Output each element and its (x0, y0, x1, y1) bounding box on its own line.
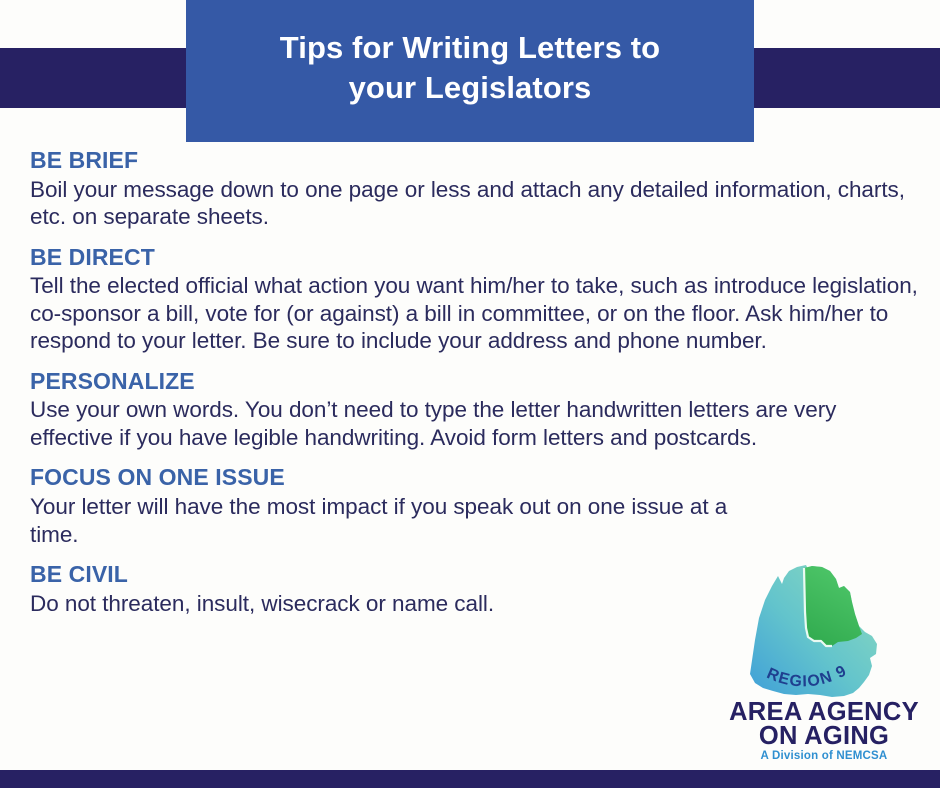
tip-body-be-brief: Boil your message down to one page or le… (30, 176, 920, 231)
title-line-2: your Legislators (349, 70, 592, 105)
tips-list: BE BRIEF Boil your message down to one p… (30, 148, 920, 631)
bottom-navy-band (0, 770, 940, 788)
tip-section-be-direct: BE DIRECT Tell the elected official what… (30, 245, 920, 355)
tip-section-focus-on-one-issue: FOCUS ON ONE ISSUE Your letter will have… (30, 465, 920, 548)
tip-body-focus-on-one-issue: Your letter will have the most impact if… (30, 493, 730, 548)
tip-section-be-brief: BE BRIEF Boil your message down to one p… (30, 148, 920, 231)
tip-section-personalize: PERSONALIZE Use your own words. You don’… (30, 369, 920, 452)
tip-body-be-civil: Do not threaten, insult, wisecrack or na… (30, 590, 730, 617)
tip-heading-personalize: PERSONALIZE (30, 369, 920, 395)
tip-heading-be-direct: BE DIRECT (30, 245, 920, 271)
tip-heading-focus-on-one-issue: FOCUS ON ONE ISSUE (30, 465, 920, 491)
logo-name-line-2: ON AGING (759, 722, 889, 750)
page-title: Tips for Writing Letters to your Legisla… (280, 28, 660, 109)
title-banner: Tips for Writing Letters to your Legisla… (186, 0, 754, 142)
tip-body-personalize: Use your own words. You don’t need to ty… (30, 396, 920, 451)
title-line-1: Tips for Writing Letters to (280, 30, 660, 65)
logo-tagline: A Division of NEMCSA (761, 750, 888, 762)
tip-body-be-direct: Tell the elected official what action yo… (30, 272, 920, 354)
infographic-poster: Tips for Writing Letters to your Legisla… (0, 0, 940, 788)
tip-heading-be-brief: BE BRIEF (30, 148, 920, 174)
region-9-area-agency-on-aging-logo: REGION 9 AREA AGENCY ON AGING A Division… (726, 562, 922, 762)
